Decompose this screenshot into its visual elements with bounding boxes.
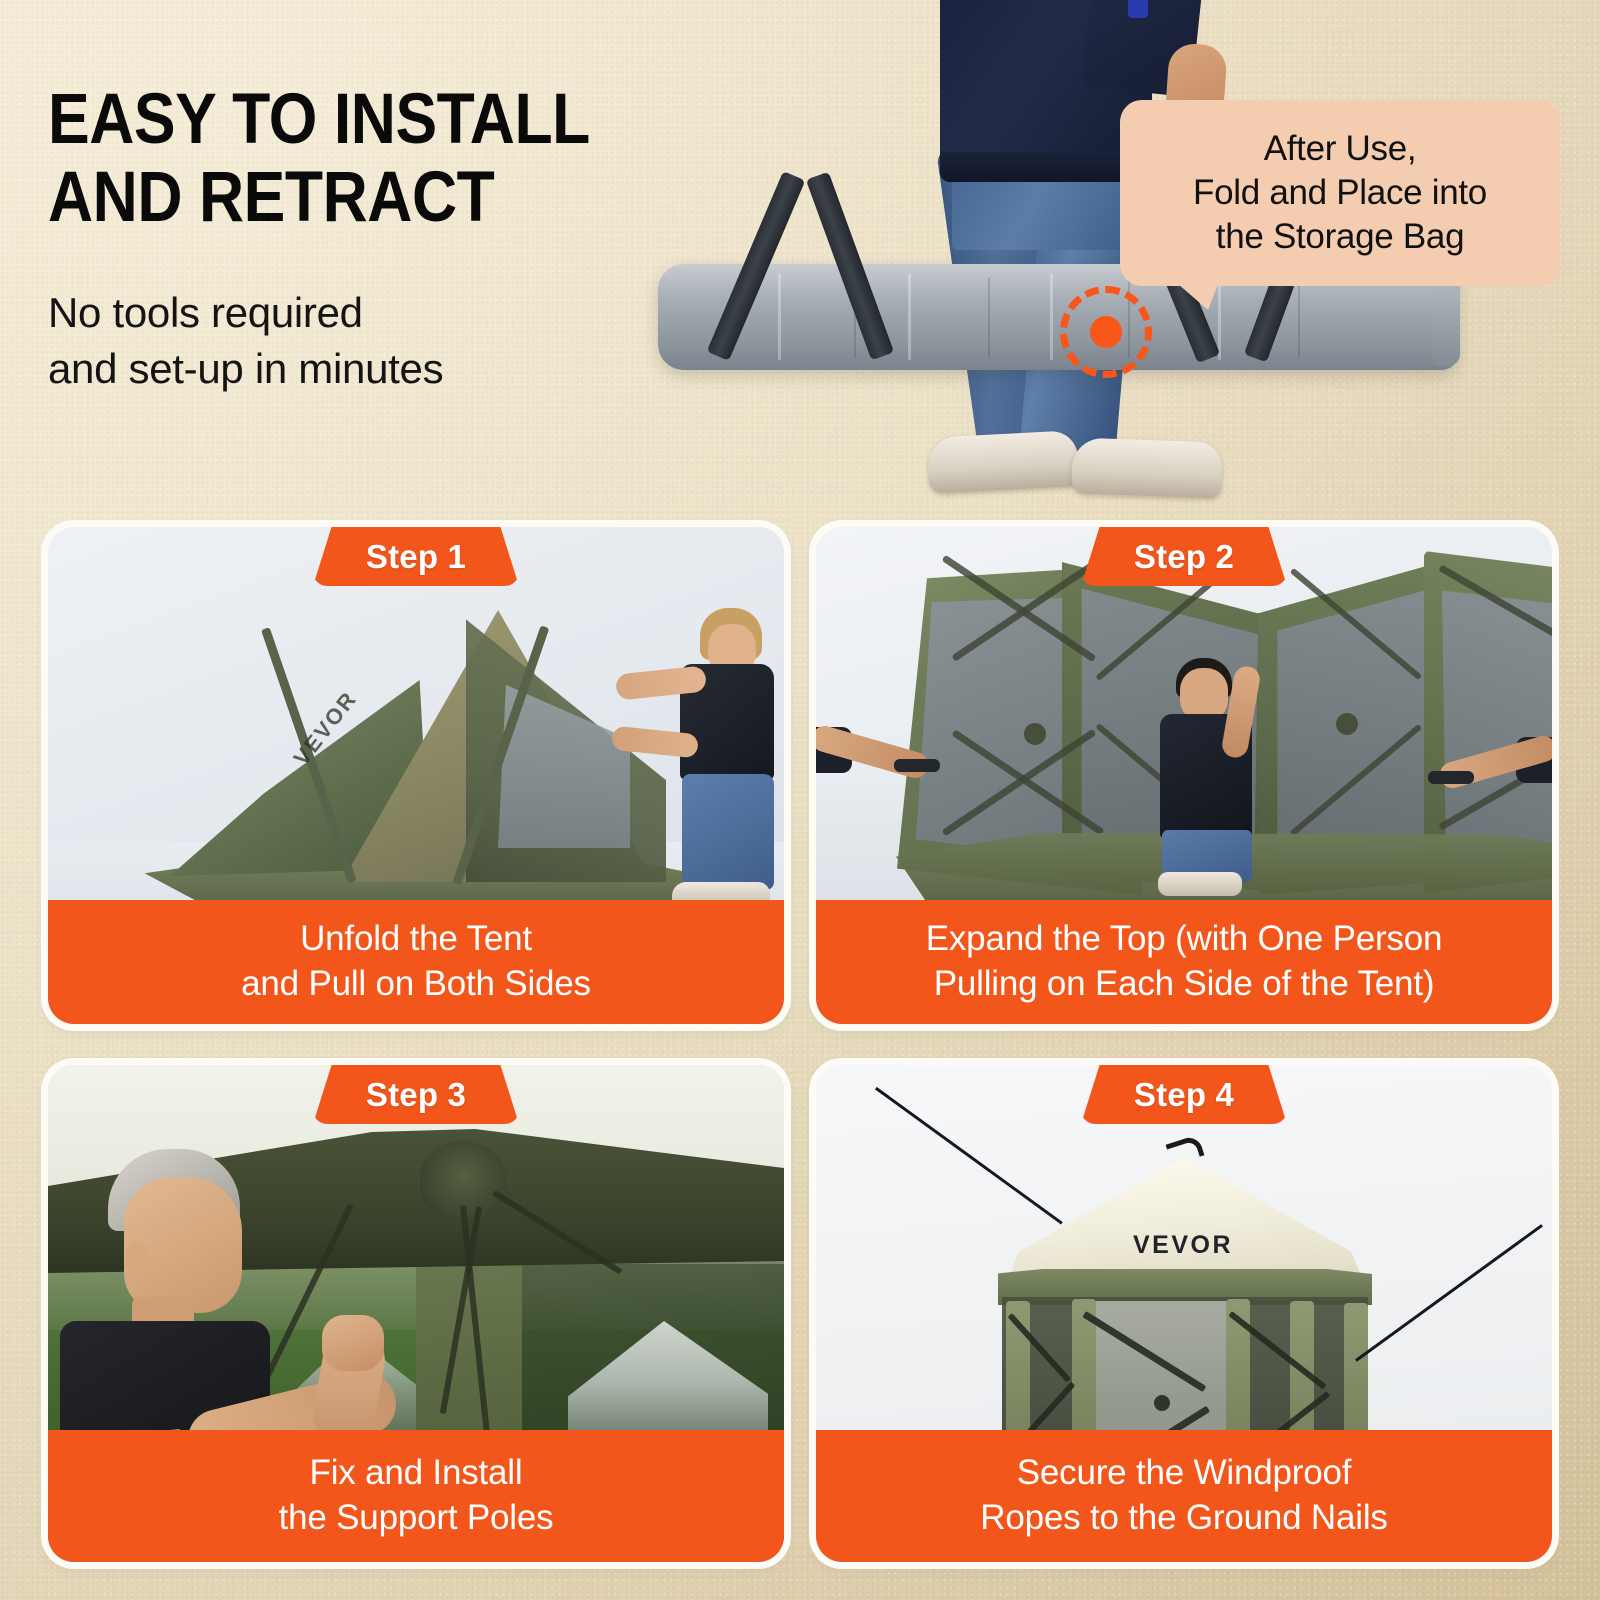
step-4-badge-label: Step 4: [1134, 1076, 1234, 1114]
step-1-caption-line-2: and Pull on Both Sides: [241, 962, 591, 1007]
step-3-caption: Fix and Install the Support Poles: [48, 1430, 784, 1562]
step-4-caption-line-1: Secure the Windproof: [1017, 1451, 1352, 1496]
headline-block: EASY TO INSTALL AND RETRACT No tools req…: [48, 86, 748, 396]
step-card-2[interactable]: Step 2 Expand the Top (with One Person P…: [816, 527, 1552, 1024]
callout-line-1: After Use,: [1264, 127, 1417, 171]
tent-handle-right: [1428, 771, 1474, 784]
callout-line-3: the Storage Bag: [1216, 215, 1464, 259]
subheadline-line-2: and set-up in minutes: [48, 341, 748, 397]
step-card-1[interactable]: VEVOR Step 1 Unfold the Tent and Pull on…: [48, 527, 784, 1024]
subheadline-block: No tools required and set-up in minutes: [48, 285, 748, 397]
step-3-badge: Step 3: [313, 1065, 519, 1124]
hero-shoe-right: [1071, 437, 1223, 498]
step-2-badge: Step 2: [1081, 527, 1287, 586]
callout-bubble-after-use: After Use, Fold and Place into the Stora…: [1120, 100, 1560, 286]
canopy-hook-icon: [1165, 1134, 1204, 1165]
step-2-caption-line-2: Pulling on Each Side of the Tent): [934, 962, 1435, 1007]
step-2-caption: Expand the Top (with One Person Pulling …: [816, 900, 1552, 1024]
headline-line-1: EASY TO INSTALL: [48, 86, 664, 155]
person-jeans: [682, 774, 774, 890]
guy-rope-left: [875, 1087, 1063, 1225]
step-3-caption-line-1: Fix and Install: [310, 1451, 523, 1496]
step-2-person: [1136, 656, 1276, 896]
subheadline-line-1: No tools required: [48, 285, 748, 341]
tent-hub-left: [1024, 723, 1046, 745]
gazebo-center-hub: [1154, 1395, 1170, 1411]
step-1-badge-label: Step 1: [366, 538, 466, 576]
step-3-badge-label: Step 3: [366, 1076, 466, 1114]
person-ear: [126, 1241, 148, 1269]
step-1-caption-line-1: Unfold the Tent: [300, 917, 532, 962]
target-dot-icon: [1058, 284, 1154, 380]
step-cards-grid: VEVOR Step 1 Unfold the Tent and Pull on…: [48, 527, 1552, 1562]
hero-shoe-left: [927, 430, 1080, 494]
vevor-logo: VEVOR: [1078, 1231, 1288, 1260]
step-1-person: [608, 606, 784, 906]
step-1-badge: Step 1: [313, 527, 519, 586]
step-card-4[interactable]: VEVOR Step 4: [816, 1065, 1552, 1562]
step-card-3[interactable]: MALE Step 3 Fix and Install the Support …: [48, 1065, 784, 1562]
tent-handle-left: [894, 759, 940, 772]
person-fist: [322, 1315, 384, 1371]
step-4-caption-line-2: Ropes to the Ground Nails: [980, 1496, 1387, 1541]
callout-line-2: Fold and Place into: [1193, 171, 1487, 215]
step-4-badge: Step 4: [1081, 1065, 1287, 1124]
step-1-caption: Unfold the Tent and Pull on Both Sides: [48, 900, 784, 1024]
headline-line-2: AND RETRACT: [48, 164, 664, 233]
step-3-caption-line-2: the Support Poles: [279, 1496, 554, 1541]
person-shoe: [1158, 872, 1242, 896]
step-2-badge-label: Step 2: [1134, 538, 1234, 576]
hero-shirt-badge: [1128, 0, 1148, 18]
tent-hub-right: [1336, 713, 1358, 735]
step-2-caption-line-1: Expand the Top (with One Person: [926, 917, 1443, 962]
guy-rope-right: [1355, 1224, 1543, 1362]
step-4-caption: Secure the Windproof Ropes to the Ground…: [816, 1430, 1552, 1562]
